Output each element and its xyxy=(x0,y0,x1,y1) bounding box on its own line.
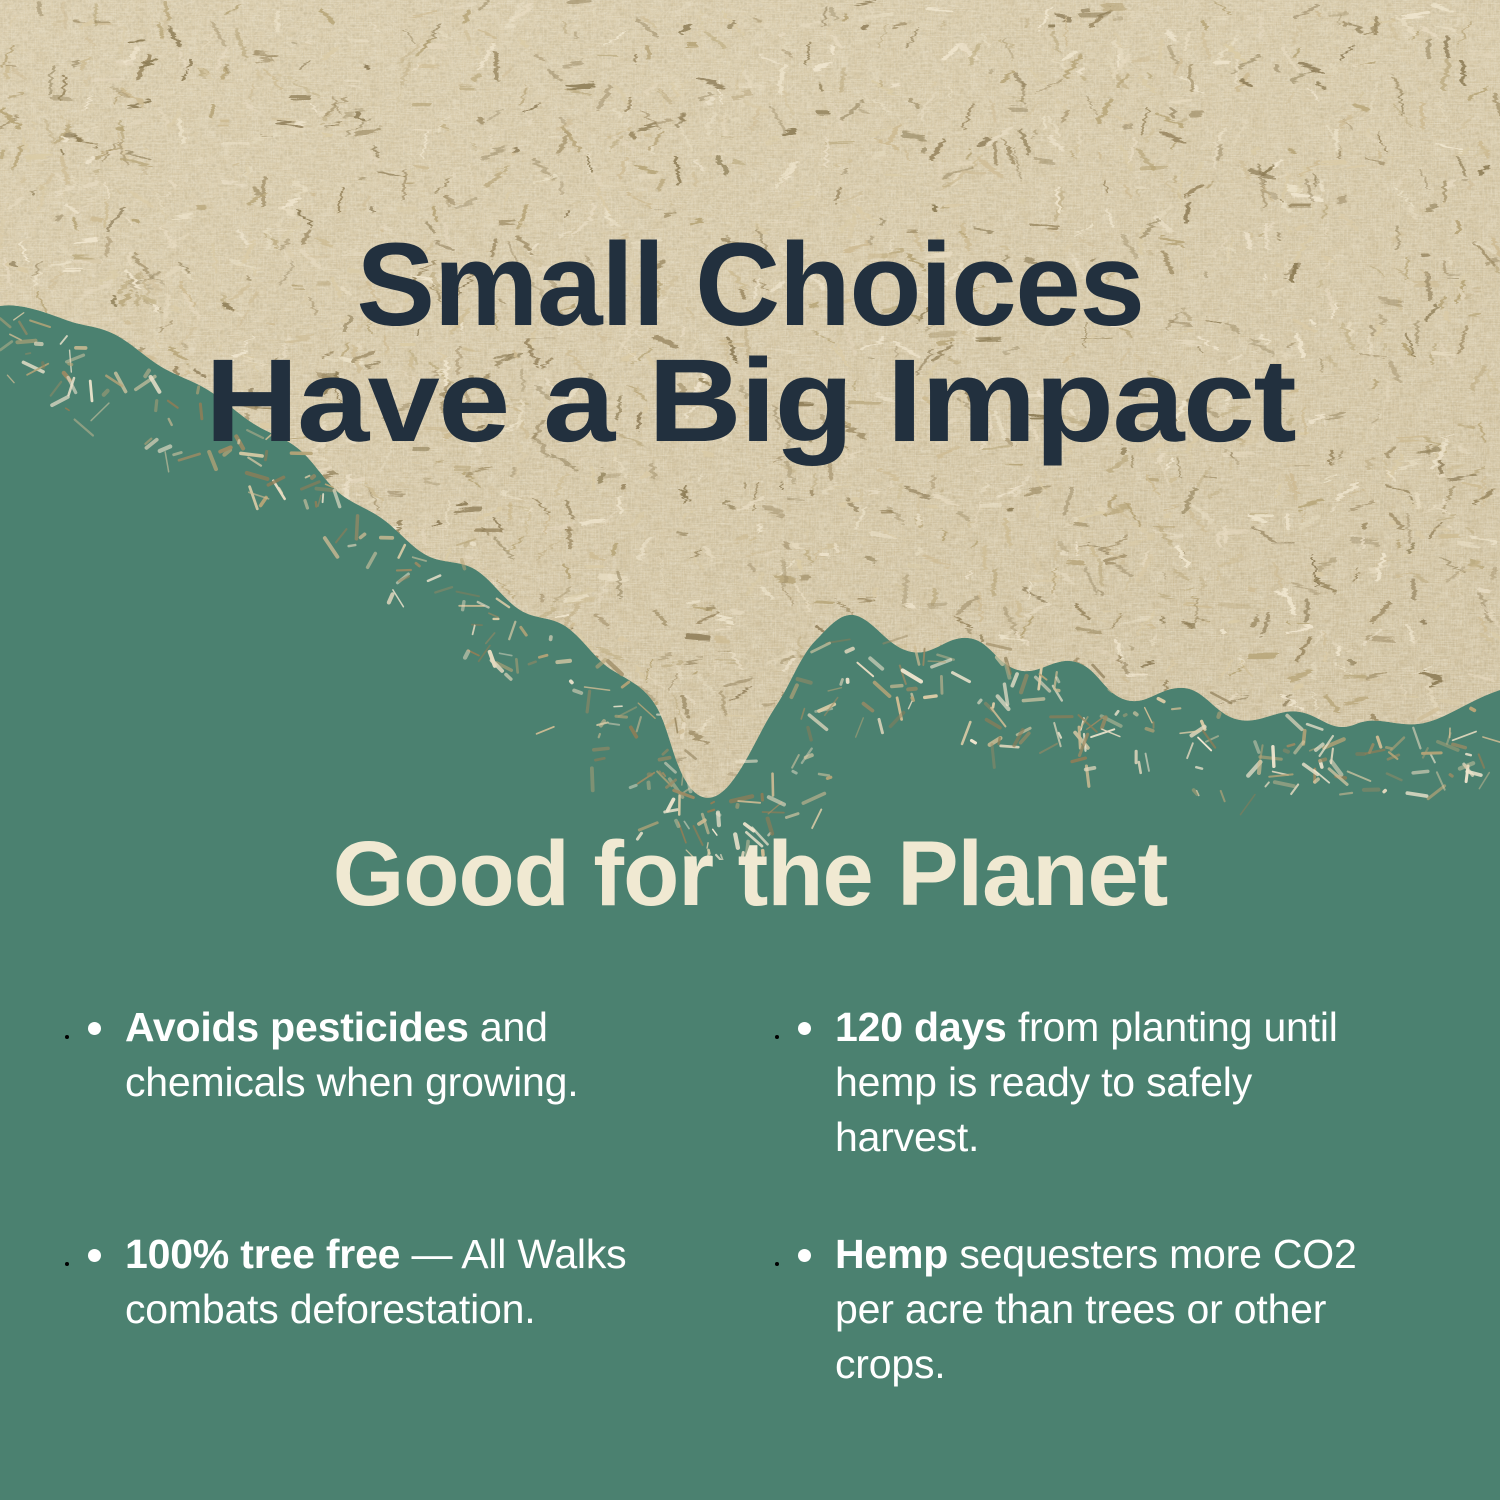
section-subheading: Good for the Planet xyxy=(0,828,1500,920)
headline-line-2: Have a Big Impact xyxy=(0,344,1500,460)
bullet-dot-icon xyxy=(798,1249,811,1262)
benefit-text: 100% tree free — All Walks combats defor… xyxy=(125,1231,626,1332)
benefit-lead: 120 days xyxy=(835,1004,1007,1050)
headline-line-1: Small Choices xyxy=(0,228,1500,344)
list-item: Hemp sequesters more CO2 per acre than t… xyxy=(790,1227,1370,1392)
bullet-dot-icon xyxy=(88,1022,101,1035)
benefit-lead: Avoids pesticides xyxy=(125,1004,469,1050)
benefit-lead: Hemp xyxy=(835,1231,948,1277)
benefit-lead: 100% tree free xyxy=(125,1231,400,1277)
bullet-dot-icon xyxy=(88,1249,101,1262)
list-item: 120 days from planting until hemp is rea… xyxy=(790,1000,1370,1165)
page-headline: Small Choices Have a Big Impact xyxy=(0,228,1500,459)
benefit-text: Avoids pesticides and chemicals when gro… xyxy=(125,1004,578,1105)
benefit-text: 120 days from planting until hemp is rea… xyxy=(835,1004,1338,1160)
poster-canvas: Small Choices Have a Big Impact Good for… xyxy=(0,0,1500,1500)
list-item: 100% tree free — All Walks combats defor… xyxy=(80,1227,660,1392)
benefit-text: Hemp sequesters more CO2 per acre than t… xyxy=(835,1231,1357,1387)
benefits-list: Avoids pesticides and chemicals when gro… xyxy=(0,1000,1500,1392)
list-item: Avoids pesticides and chemicals when gro… xyxy=(80,1000,660,1165)
bullet-dot-icon xyxy=(798,1022,811,1035)
